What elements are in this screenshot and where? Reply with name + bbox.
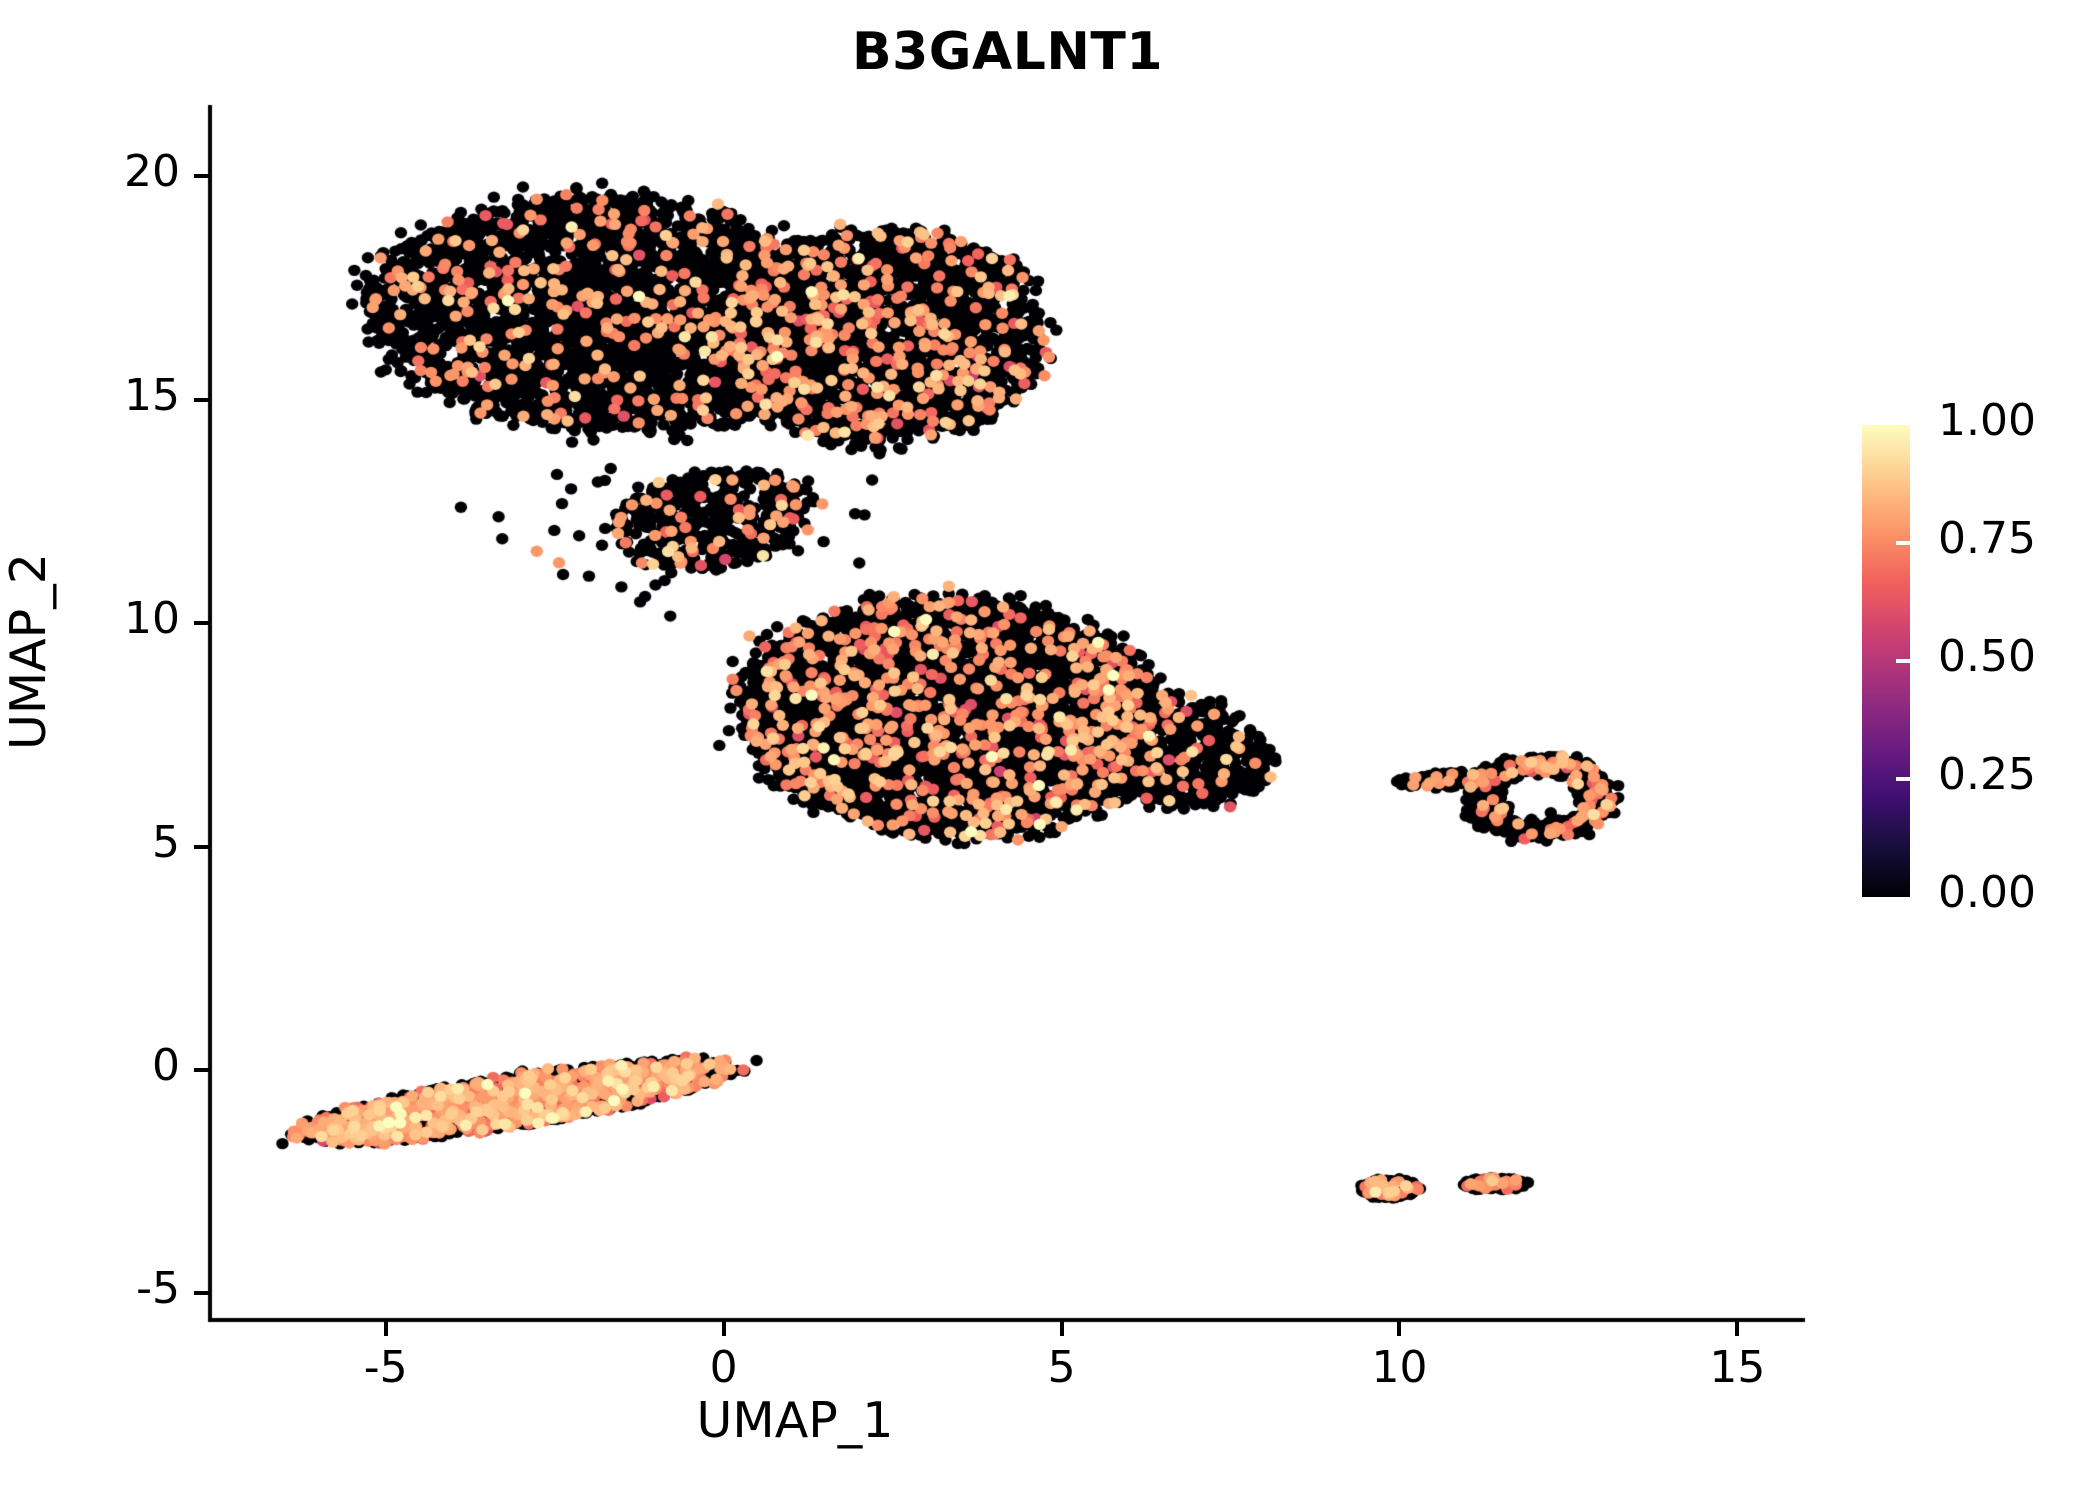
scatter-plot-area[interactable] (0, 0, 2100, 1500)
x-tick-mark (384, 1320, 388, 1336)
colorbar-tick-label: 0.50 (1938, 631, 2036, 682)
x-axis-label: UMAP_1 (0, 1392, 2100, 1449)
x-tick-mark (722, 1320, 726, 1336)
y-tick-label: 15 (0, 370, 180, 421)
colorbar-tick-label: 0.25 (1938, 749, 2036, 800)
x-tick-label: 15 (1627, 1342, 1847, 1393)
y-tick-mark (194, 845, 210, 849)
y-tick-label: 20 (0, 146, 180, 197)
y-tick-mark (194, 1068, 210, 1072)
y-tick-mark (194, 398, 210, 402)
x-axis-label-text: UMAP_1 (697, 1392, 894, 1449)
x-tick-label: 10 (1289, 1342, 1509, 1393)
y-tick-label: 5 (0, 817, 180, 868)
colorbar-tick-label: 1.00 (1938, 395, 2036, 446)
y-tick-mark (194, 1291, 210, 1295)
y-tick-mark (194, 174, 210, 178)
x-tick-label: 5 (952, 1342, 1172, 1393)
x-tick-mark (1060, 1320, 1064, 1336)
y-tick-mark (194, 621, 210, 625)
colorbar-tick-label: 0.00 (1938, 867, 2036, 918)
colorbar-tick-mark (1896, 541, 1922, 545)
colorbar-tick-mark (1896, 659, 1922, 663)
x-tick-mark (1735, 1320, 1739, 1336)
x-tick-label: 0 (614, 1342, 834, 1393)
y-tick-label: -5 (0, 1263, 180, 1314)
y-tick-label: 10 (0, 593, 180, 644)
colorbar-tick-label: 0.75 (1938, 513, 2036, 564)
x-tick-mark (1397, 1320, 1401, 1336)
colorbar-tick-mark (1896, 777, 1922, 781)
y-axis-label: UMAP_2 (0, 553, 57, 750)
figure-canvas: B3GALNT1 UMAP_1 UMAP_2 -505101520-505101… (0, 0, 2100, 1500)
x-tick-label: -5 (276, 1342, 496, 1393)
y-tick-label: 0 (0, 1040, 180, 1091)
